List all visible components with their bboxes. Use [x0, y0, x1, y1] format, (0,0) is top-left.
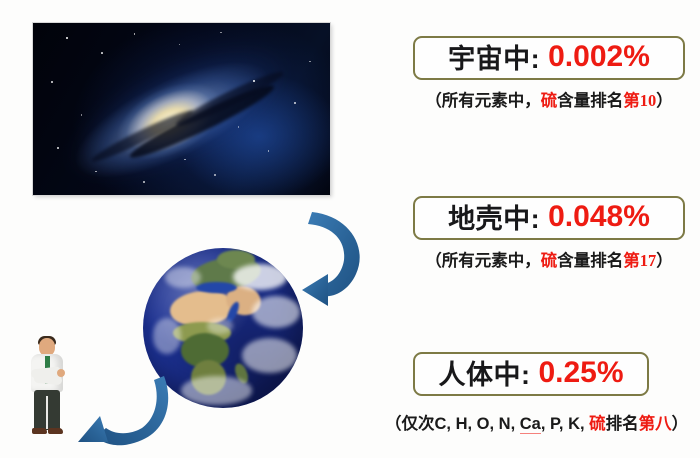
stat-label-universe: 宇宙中:	[448, 37, 540, 76]
caption-prefix: （所有元素中，	[425, 251, 541, 270]
star	[57, 147, 59, 149]
arrow-universe-to-earth	[272, 200, 382, 310]
caption-human-body: （仅次C, H, O, N, Ca, P, K, 硫排名第八）	[385, 410, 677, 434]
caption-rank: 第17	[623, 251, 656, 270]
stat-box-crust: 地壳中: 0.048%	[413, 196, 685, 240]
caption-elements: C, H, O, N, Ca, P, K,	[435, 415, 590, 434]
info-block-universe: 宇宙中: 0.002% （所有元素中，硫含量排名第10）	[413, 36, 685, 111]
cloud	[165, 267, 200, 288]
caption-mid: 含量排名	[557, 91, 623, 110]
star	[179, 44, 181, 46]
star	[220, 32, 222, 34]
stat-value-universe: 0.002%	[548, 40, 650, 74]
element-ca: Ca	[520, 415, 541, 434]
info-block-crust: 地壳中: 0.048% （所有元素中，硫含量排名第17）	[413, 196, 685, 271]
cloud	[242, 338, 296, 373]
galaxy-photo	[33, 23, 330, 195]
star	[101, 52, 103, 54]
arrow-earth-to-person	[58, 368, 188, 458]
star	[253, 80, 255, 82]
caption-sulfur: 硫	[541, 91, 558, 110]
caption-suffix: ）	[656, 91, 673, 110]
caption-sulfur: 硫	[589, 414, 606, 433]
person-leg-split	[46, 396, 48, 429]
stat-label-human-body: 人体中:	[438, 353, 530, 392]
infographic-canvas: 宇宙中: 0.002% （所有元素中，硫含量排名第10） 地壳中: 0.048%…	[0, 0, 700, 454]
caption-mid: 排名	[606, 414, 639, 433]
caption-mid: 含量排名	[557, 251, 623, 270]
person-shoe-left	[32, 428, 47, 434]
caption-universe: （所有元素中，硫含量排名第10）	[413, 87, 685, 111]
stat-label-crust: 地壳中:	[448, 197, 540, 236]
caption-sulfur: 硫	[541, 251, 558, 270]
caption-crust: （所有元素中，硫含量排名第17）	[413, 247, 685, 271]
stat-value-crust: 0.048%	[548, 200, 650, 234]
cloud	[153, 318, 182, 353]
sea-mediterranean	[196, 282, 238, 293]
stat-box-human-body: 人体中: 0.25%	[413, 352, 649, 396]
star	[81, 114, 83, 116]
caption-rank: 第10	[623, 91, 656, 110]
star	[66, 37, 68, 39]
caption-suffix: ）	[672, 414, 689, 433]
element-c: C, H, O, N,	[435, 415, 520, 433]
caption-rank: 第八	[639, 414, 672, 433]
caption-prefix: （仅次	[385, 414, 435, 433]
stat-value-human-body: 0.25%	[538, 356, 623, 390]
star	[268, 150, 270, 152]
element-tail: , P, K,	[541, 415, 589, 433]
stat-box-universe: 宇宙中: 0.002%	[413, 36, 685, 80]
cloud	[181, 376, 251, 405]
info-block-human-body: 人体中: 0.25% （仅次C, H, O, N, Ca, P, K, 硫排名第…	[413, 352, 649, 396]
caption-prefix: （所有元素中，	[425, 91, 541, 110]
caption-suffix: ）	[656, 251, 673, 270]
